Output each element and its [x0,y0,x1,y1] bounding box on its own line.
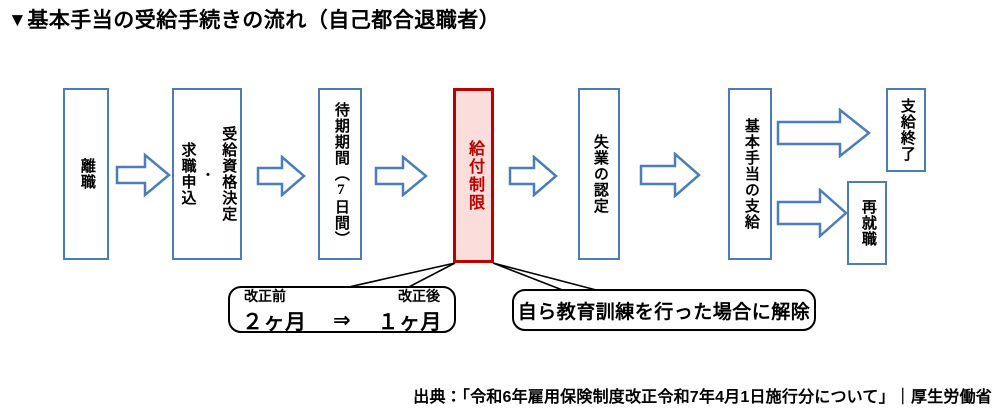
flow-box-shitsugyo-nintei[interactable]: 失業の認定 [578,88,620,260]
flow-box-rishoku[interactable]: 離職 [63,88,109,260]
flow-arrow-2 [256,155,306,197]
flow-box-label-right: 受給資格決定 [219,126,237,222]
flow-arrow-3 [374,155,428,197]
flowchart: 離職 受給資格決定 ・ 求職申込 待期期間（7日間） 給付制限 失業の認定 [0,0,1000,415]
callout-before-label: 改正前 [244,286,286,306]
flow-box-label: 離職 [77,158,95,190]
flow-box-label: 失業の認定 [590,134,608,214]
flow-arrow-4 [508,155,558,197]
flow-arrow-1 [115,152,171,198]
flow-box-label: 給付制限 [464,140,483,212]
flow-box-label: 再就職 [858,199,876,247]
flow-box-kyushoku-shinkomi[interactable]: 受給資格決定 ・ 求職申込 [172,88,242,260]
flow-box-label: 支給終了 [897,98,915,162]
callout-after-value: １ヶ月 [377,306,442,336]
flow-box-label: 基本手当の支給 [741,118,759,230]
callout-after-label: 改正後 [398,286,440,306]
flow-arrow-6-upper [776,108,871,158]
callout-kaisei-kikan[interactable]: 改正前 改正後 ２ヶ月 ⇒ １ヶ月 [228,286,456,333]
flow-box-shikyu-shuryo[interactable]: 支給終了 [886,88,926,172]
source-citation: 出典：「令和6年雇用保険制度改正令和7年4月1日施行分について」｜厚生労働省 [413,383,992,407]
flow-arrow-5 [639,152,701,198]
flow-box-taiki-kikan[interactable]: 待期期間（7日間） [318,88,362,260]
flow-box-saishushoku[interactable]: 再就職 [847,181,887,265]
callout-value-row: ２ヶ月 ⇒ １ヶ月 [230,306,454,336]
flow-box-label-separator: ・ [197,167,218,182]
callout-before-value: ２ヶ月 [242,306,307,336]
callout-kyoiku-kunren[interactable]: 自ら教育訓練を行った場合に解除 [512,289,816,331]
flow-box-kihon-teate-shikyu[interactable]: 基本手当の支給 [728,88,772,260]
callout-label-row: 改正前 改正後 [230,286,454,306]
flow-box-label-left: 求職申込 [178,142,196,206]
flow-box-label: 待期期間（7日間） [331,102,349,247]
flow-box-label-group: 受給資格決定 ・ 求職申込 [178,126,236,222]
flow-arrow-6-lower [776,188,848,238]
flow-box-kyufu-seigen[interactable]: 給付制限 [453,88,494,263]
callout-right-label: 自ら教育訓練を行った場合に解除 [518,297,811,324]
callout-transition-arrow: ⇒ [333,308,351,333]
